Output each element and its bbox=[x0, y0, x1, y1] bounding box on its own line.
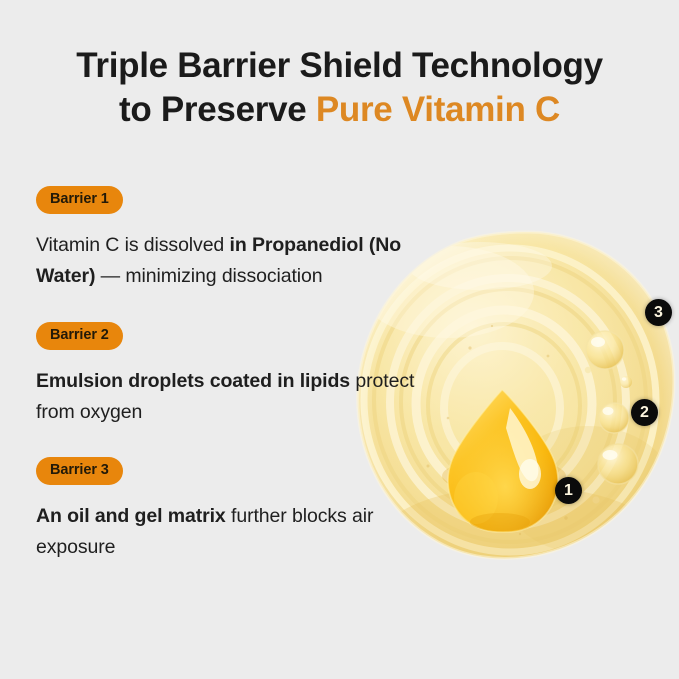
gel-bubbles bbox=[585, 331, 638, 504]
barrier-section-2: Barrier 2 Emulsion droplets coated in li… bbox=[36, 322, 436, 428]
barrier-1-part-1: Vitamin C is dissolved bbox=[36, 234, 230, 256]
title-line-2: to Preserve Pure Vitamin C bbox=[0, 88, 679, 132]
barrier-3-part-1: An oil and gel matrix bbox=[36, 505, 226, 527]
title-accent-text: Pure Vitamin C bbox=[316, 90, 560, 129]
page-title: Triple Barrier Shield Technology to Pres… bbox=[0, 44, 679, 132]
barrier-section-1: Barrier 1 Vitamin C is dissolved in Prop… bbox=[36, 186, 436, 292]
barrier-description-3: An oil and gel matrix further blocks air… bbox=[36, 501, 436, 563]
barrier-description-1: Vitamin C is dissolved in Propanediol (N… bbox=[36, 230, 436, 292]
infographic-canvas: Triple Barrier Shield Technology to Pres… bbox=[0, 0, 679, 679]
marker-badge-2: 2 bbox=[631, 399, 658, 426]
barrier-badge-2: Barrier 2 bbox=[36, 322, 123, 350]
barrier-badge-1: Barrier 1 bbox=[36, 186, 123, 214]
marker-badge-1: 1 bbox=[555, 477, 582, 504]
barrier-1-part-3: — minimizing dissociation bbox=[95, 265, 322, 287]
barrier-2-part-1: Emulsion droplets coated in lipids bbox=[36, 370, 350, 392]
title-line-2-prefix: to Preserve bbox=[119, 90, 316, 129]
title-line-1: Triple Barrier Shield Technology bbox=[0, 44, 679, 88]
barrier-badge-3: Barrier 3 bbox=[36, 457, 123, 485]
barrier-section-3: Barrier 3 An oil and gel matrix further … bbox=[36, 457, 436, 563]
barrier-description-2: Emulsion droplets coated in lipids prote… bbox=[36, 366, 436, 428]
marker-badge-3: 3 bbox=[645, 299, 672, 326]
vitamin-c-droplet bbox=[442, 390, 566, 532]
